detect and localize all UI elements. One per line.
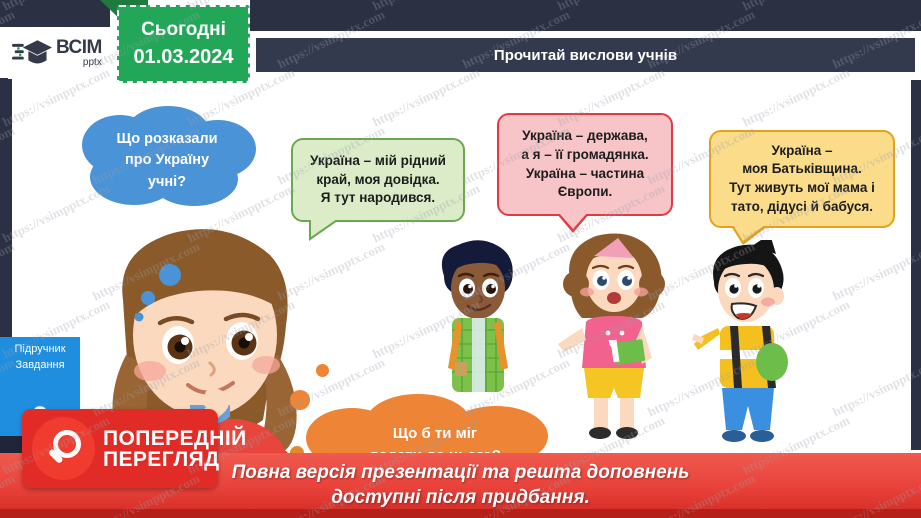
slide-title-bar: Прочитай вислови учнів [256, 38, 915, 72]
logo-name: ВСІМ [56, 38, 102, 57]
presentation-slide: ВСІМ pptx Сьогодні 01.03.2024 Прочитай в… [0, 0, 921, 518]
banner-bottom-strip [0, 509, 921, 518]
watermark-text: https://vsimpptx.com [370, 65, 483, 131]
bubble-student-2: Україна – держава, а я – її громадянка. … [497, 113, 673, 216]
bubble-student-2-text: Україна – держава, а я – її громадянка. … [511, 119, 658, 210]
preview-button-labels: ПОПЕРЕДНІЙ ПЕРЕГЛЯД [103, 428, 247, 470]
graduation-cap-icon [12, 36, 52, 70]
logo-subtitle: pptx [56, 58, 102, 68]
watermark-text: https://vsimpptx.com [830, 239, 921, 305]
bubble-2-tail [559, 213, 587, 229]
bubble-3-tail [733, 225, 765, 241]
preview-label-2: ПЕРЕГЛЯД [103, 449, 247, 470]
date-label: Сьогодні [141, 19, 226, 41]
preview-button[interactable]: ПОПЕРЕДНІЙ ПЕРЕГЛЯД [22, 409, 218, 488]
watermark-text: https://vsimpptx.com [830, 355, 921, 421]
decorative-dot [316, 364, 329, 377]
date-value: 01.03.2024 [133, 46, 233, 69]
frame-top-left [0, 0, 110, 27]
preview-label-1: ПОПЕРЕДНІЙ [103, 428, 247, 449]
banner-line-1: Повна версія презентації та решта доповн… [232, 461, 690, 485]
frame-right-band [911, 80, 921, 450]
character-girl-pink-shirt [556, 228, 672, 443]
panel-line-1: Підручник [14, 343, 65, 355]
brand-logo: ВСІМ pptx [8, 27, 112, 79]
sidebar-textbook-panel[interactable]: Підручник Завдання [0, 337, 80, 401]
magnifier-icon [42, 427, 86, 471]
bubble-1-tail [311, 219, 337, 237]
bubble-student-3: Україна – моя Батьківщина. Тут живуть мо… [709, 130, 895, 228]
bubble-question-text: Що розказали про Україну учні? [72, 105, 262, 217]
frame-top-right [250, 0, 921, 31]
bubble-student-3-text: Україна – моя Батьківщина. Тут живуть мо… [719, 134, 885, 225]
watermark-text: https://vsimpptx.com [740, 65, 853, 131]
preview-icon-circle [32, 417, 95, 480]
character-boy-yellow-shirt [692, 240, 808, 450]
slide-title: Прочитай вислови учнів [494, 47, 677, 64]
banner-line-2: доступні після придбання. [331, 486, 590, 510]
panel-line-2: Завдання [15, 359, 64, 371]
bubble-student-1: Україна – мій рідний край, моя довідка. … [291, 138, 465, 222]
bubble-question-cloud: Що розказали про Україну учні? [72, 105, 262, 217]
bubble-student-1-text: Україна – мій рідний край, моя довідка. … [300, 144, 456, 216]
today-date-badge: Сьогодні 01.03.2024 [117, 5, 250, 83]
